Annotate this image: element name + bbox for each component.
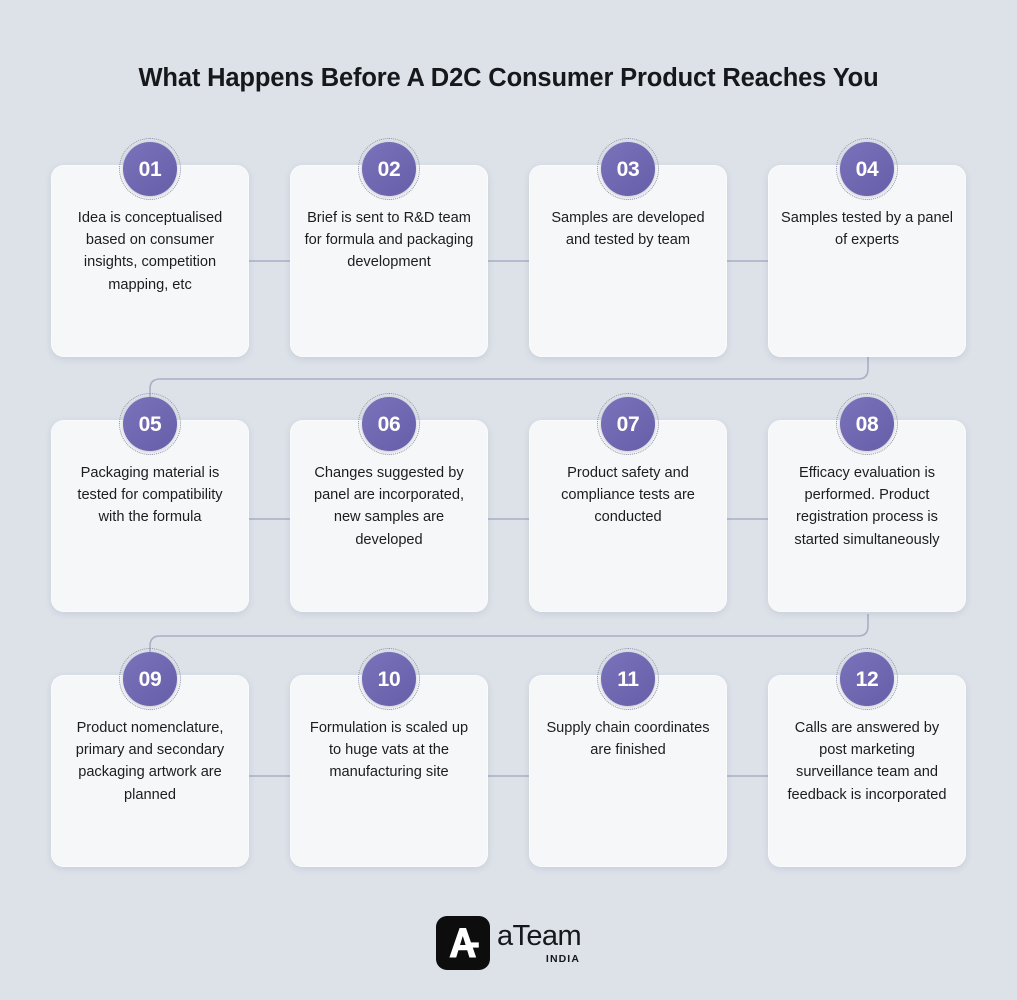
badge-number: 11	[617, 669, 639, 690]
step-text: Changes suggested by panel are incorpora…	[303, 462, 475, 551]
badge-circle: 08	[840, 397, 894, 451]
step-card[interactable]: Samples tested by a panel of experts 04	[768, 165, 966, 357]
badge-number: 10	[378, 669, 401, 690]
badge-circle: 11	[601, 652, 655, 706]
badge-number: 12	[856, 669, 879, 690]
badge-number: 06	[378, 414, 401, 435]
step-text: Efficacy evaluation is performed. Produc…	[781, 462, 953, 551]
badge-circle: 07	[601, 397, 655, 451]
logo-subtitle: INDIA	[546, 954, 580, 965]
logo-a-glyph-icon	[445, 926, 481, 960]
step-badge: 02	[358, 138, 420, 200]
step-text: Product nomenclature, primary and second…	[64, 717, 236, 806]
badge-number: 09	[139, 669, 162, 690]
badge-number: 08	[856, 414, 879, 435]
step-card[interactable]: Formulation is scaled up to huge vats at…	[290, 675, 488, 867]
infographic-page: What Happens Before A D2C Consumer Produ…	[0, 0, 1017, 1000]
step-card[interactable]: Efficacy evaluation is performed. Produc…	[768, 420, 966, 612]
step-card[interactable]: Packaging material is tested for compati…	[51, 420, 249, 612]
step-card[interactable]: Calls are answered by post marketing sur…	[768, 675, 966, 867]
badge-number: 02	[378, 159, 401, 180]
badge-circle: 04	[840, 142, 894, 196]
step-badge: 04	[836, 138, 898, 200]
badge-circle: 03	[601, 142, 655, 196]
step-text: Product safety and compliance tests are …	[542, 462, 714, 529]
badge-circle: 05	[123, 397, 177, 451]
badge-circle: 06	[362, 397, 416, 451]
step-badge: 05	[119, 393, 181, 455]
step-card[interactable]: Changes suggested by panel are incorpora…	[290, 420, 488, 612]
step-text: Samples tested by a panel of experts	[781, 207, 953, 251]
step-card[interactable]: Brief is sent to R&D team for formula an…	[290, 165, 488, 357]
step-card[interactable]: Supply chain coordinates are finished 11	[529, 675, 727, 867]
logo-wordmark: aTeam INDIA	[497, 922, 581, 964]
step-text: Formulation is scaled up to huge vats at…	[303, 717, 475, 784]
step-badge: 11	[597, 648, 659, 710]
badge-number: 05	[139, 414, 162, 435]
logo-word: aTeam	[497, 922, 581, 952]
page-title: What Happens Before A D2C Consumer Produ…	[0, 64, 1017, 93]
step-text: Idea is conceptualised based on consumer…	[64, 207, 236, 296]
steps-row-1: Idea is conceptualised based on consumer…	[51, 165, 969, 357]
badge-circle: 12	[840, 652, 894, 706]
step-card[interactable]: Idea is conceptualised based on consumer…	[51, 165, 249, 357]
step-badge: 09	[119, 648, 181, 710]
steps-row-2: Packaging material is tested for compati…	[51, 420, 969, 612]
steps-row-3: Product nomenclature, primary and second…	[51, 675, 969, 867]
step-badge: 06	[358, 393, 420, 455]
step-badge: 12	[836, 648, 898, 710]
step-badge: 08	[836, 393, 898, 455]
badge-number: 03	[617, 159, 640, 180]
step-badge: 01	[119, 138, 181, 200]
step-text: Supply chain coordinates are finished	[542, 717, 714, 761]
ateam-logo-icon	[436, 916, 490, 970]
step-badge: 03	[597, 138, 659, 200]
footer-logo: aTeam INDIA	[0, 916, 1017, 970]
badge-circle: 10	[362, 652, 416, 706]
badge-number: 07	[617, 414, 640, 435]
badge-circle: 02	[362, 142, 416, 196]
step-text: Calls are answered by post marketing sur…	[781, 717, 953, 806]
step-card[interactable]: Product nomenclature, primary and second…	[51, 675, 249, 867]
step-card[interactable]: Samples are developed and tested by team…	[529, 165, 727, 357]
badge-number: 01	[139, 159, 162, 180]
badge-circle: 09	[123, 652, 177, 706]
badge-number: 04	[856, 159, 879, 180]
step-badge: 07	[597, 393, 659, 455]
step-text: Packaging material is tested for compati…	[64, 462, 236, 529]
badge-circle: 01	[123, 142, 177, 196]
steps-grid: Idea is conceptualised based on consumer…	[51, 165, 969, 867]
step-text: Samples are developed and tested by team	[542, 207, 714, 251]
step-badge: 10	[358, 648, 420, 710]
step-card[interactable]: Product safety and compliance tests are …	[529, 420, 727, 612]
step-text: Brief is sent to R&D team for formula an…	[303, 207, 475, 274]
